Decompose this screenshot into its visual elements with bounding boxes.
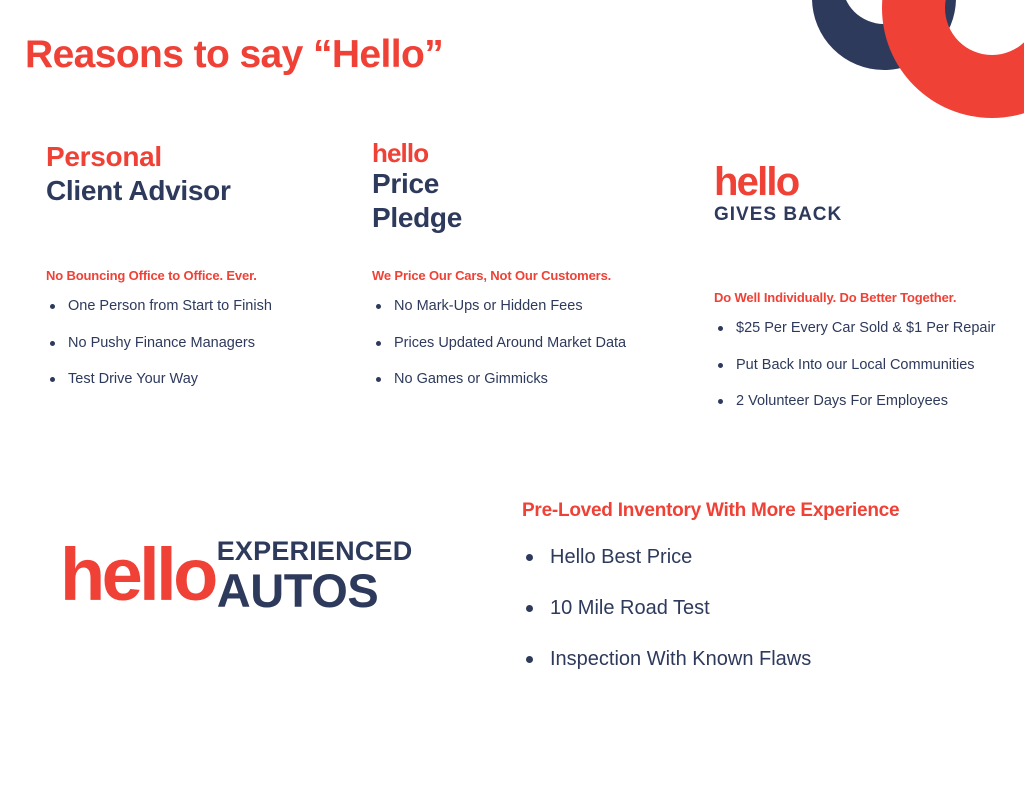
- column-1-subtitle: No Bouncing Office to Office. Ever.: [46, 268, 346, 283]
- list-item: No Pushy Finance Managers: [46, 334, 346, 354]
- list-item: Test Drive Your Way: [46, 370, 346, 390]
- list-item: 10 Mile Road Test: [522, 595, 1002, 621]
- decorative-rings-graphic: [764, 0, 1024, 130]
- gives-back-tagline: GIVES BACK: [714, 204, 1014, 227]
- column-1-heading-navy: Client Advisor: [46, 174, 346, 208]
- column-1-heading-red: Personal: [46, 140, 346, 174]
- column-2-heading-line1: Price: [372, 167, 682, 201]
- slide-canvas: Reasons to say “Hello” Personal Client A…: [0, 0, 1024, 804]
- column-1-bullet-list: One Person from Start to Finish No Pushy…: [46, 297, 346, 390]
- column-2-subtitle: We Price Our Cars, Not Our Customers.: [372, 268, 682, 283]
- list-item: No Mark-Ups or Hidden Fees: [372, 297, 682, 317]
- list-item: No Games or Gimmicks: [372, 370, 682, 390]
- footer-bullet-list: Hello Best Price 10 Mile Road Test Inspe…: [522, 544, 1002, 672]
- column-1-heading: Personal Client Advisor: [46, 140, 346, 244]
- red-ring-shape: [882, 0, 1024, 118]
- hello-experienced-autos-logo: hello EXPERIENCED AUTOS: [60, 536, 412, 614]
- column-3-bullet-list: $25 Per Every Car Sold & $1 Per Repair P…: [714, 319, 1014, 412]
- column-2-bullet-list: No Mark-Ups or Hidden Fees Prices Update…: [372, 297, 682, 390]
- page-title: Reasons to say “Hello”: [25, 33, 443, 77]
- column-personal-client-advisor: Personal Client Advisor No Bouncing Offi…: [46, 140, 346, 407]
- navy-ring-shape: [812, 0, 956, 70]
- logo-text-stack: EXPERIENCED AUTOS: [217, 538, 413, 614]
- column-hello-gives-back: hello GIVES BACK Do Well Individually. D…: [714, 140, 1014, 429]
- column-3-subtitle: Do Well Individually. Do Better Together…: [714, 290, 1014, 305]
- logo-experienced-text: EXPERIENCED: [217, 538, 413, 565]
- list-item: One Person from Start to Finish: [46, 297, 346, 317]
- footer-block-title: Pre-Loved Inventory With More Experience: [522, 500, 1002, 522]
- list-item: 2 Volunteer Days For Employees: [714, 392, 1014, 412]
- list-item: Prices Updated Around Market Data: [372, 334, 682, 354]
- column-3-heading: hello GIVES BACK: [714, 140, 1014, 266]
- pre-loved-inventory-block: Pre-Loved Inventory With More Experience…: [522, 500, 1002, 697]
- hello-wordmark: hello: [372, 140, 682, 167]
- list-item: Put Back Into our Local Communities: [714, 356, 1014, 376]
- column-2-heading: hello Price Pledge: [372, 140, 682, 244]
- hello-wordmark: hello: [714, 162, 1014, 202]
- list-item: $25 Per Every Car Sold & $1 Per Repair: [714, 319, 1014, 339]
- logo-autos-text: AUTOS: [217, 567, 413, 614]
- logo-hello-wordmark: hello: [60, 543, 215, 607]
- column-2-heading-line2: Pledge: [372, 201, 682, 235]
- column-hello-price-pledge: hello Price Pledge We Price Our Cars, No…: [372, 140, 682, 407]
- list-item: Hello Best Price: [522, 544, 1002, 570]
- list-item: Inspection With Known Flaws: [522, 646, 1002, 672]
